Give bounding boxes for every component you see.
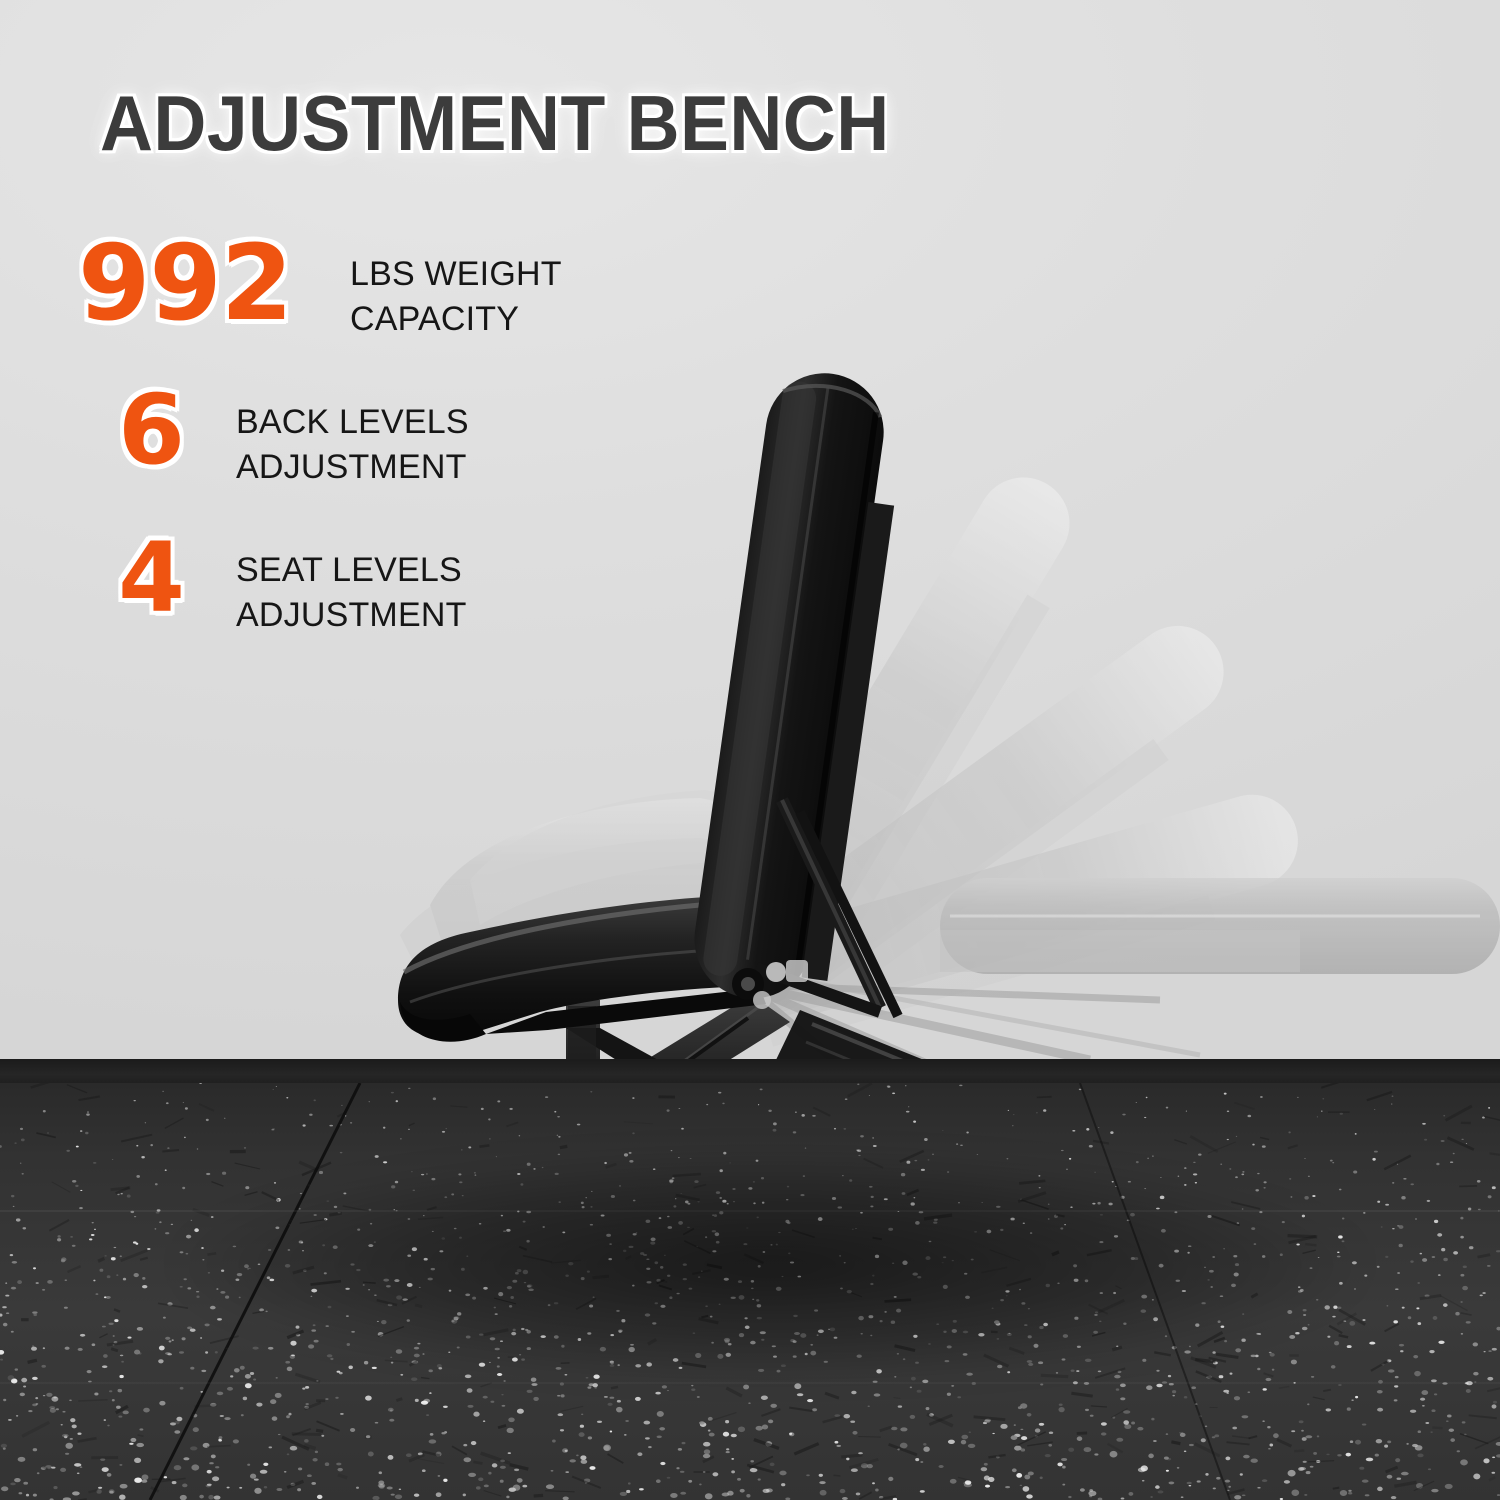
stat-number: 4	[92, 534, 210, 622]
stat-item: 992 LBS WEIGHT CAPACITY	[78, 236, 698, 342]
product-marketing-image: ADJUSTMENT BENCH 992 LBS WEIGHT CAPACITY…	[0, 0, 1500, 1500]
page-title: ADJUSTMENT BENCH	[100, 78, 890, 169]
stat-number: 992	[78, 236, 350, 332]
ghost-flat-pad	[940, 878, 1500, 974]
stat-label: LBS WEIGHT CAPACITY	[350, 236, 562, 342]
stat-item: 6 BACK LEVELS ADJUSTMENT	[78, 386, 698, 490]
bench-floor-shadow	[180, 1150, 1360, 1380]
feature-stats-list: 992 LBS WEIGHT CAPACITY 6 BACK LEVELS AD…	[78, 236, 698, 682]
wall-baseboard	[0, 1059, 1500, 1085]
stat-item: 4 SEAT LEVELS ADJUSTMENT	[78, 534, 698, 638]
stat-label: SEAT LEVELS ADJUSTMENT	[210, 534, 467, 638]
stat-label: BACK LEVELS ADJUSTMENT	[210, 386, 469, 490]
stat-number: 6	[92, 386, 210, 474]
